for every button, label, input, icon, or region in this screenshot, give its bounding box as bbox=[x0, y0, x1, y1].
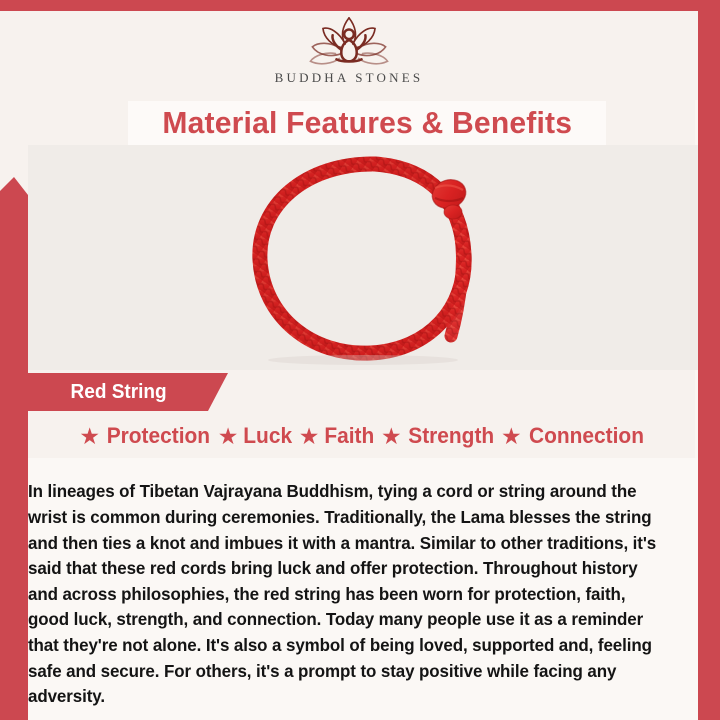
description-panel: In lineages of Tibetan Vajrayana Buddhis… bbox=[28, 458, 698, 720]
star-icon: ★ bbox=[381, 425, 402, 448]
frame-top-bar bbox=[0, 0, 720, 11]
title-banner: Material Features & Benefits bbox=[128, 101, 606, 145]
label-left-strip bbox=[0, 373, 28, 411]
benefit-item: ★ Connection bbox=[501, 423, 647, 449]
benefit-item: ★ Strength bbox=[381, 423, 496, 449]
brand-name: BUDDHA STONES bbox=[275, 70, 424, 86]
benefit-item: ★ Faith bbox=[299, 423, 376, 449]
page-title: Material Features & Benefits bbox=[162, 105, 572, 141]
infographic-page: BUDDHA STONES Material Features & Benefi… bbox=[0, 0, 720, 720]
benefits-list: ★ Protection ★ Luck ★ Faith ★ Strength ★… bbox=[28, 414, 698, 458]
frame-right-bar bbox=[698, 0, 720, 720]
benefit-label: Faith bbox=[325, 423, 375, 449]
benefit-label: Luck bbox=[244, 423, 293, 449]
star-icon: ★ bbox=[299, 425, 320, 448]
benefit-item: ★ Protection bbox=[79, 423, 212, 449]
red-string-bracelet-illustration bbox=[233, 150, 493, 366]
benefit-label: Protection bbox=[107, 423, 210, 449]
benefit-label: Connection bbox=[529, 423, 644, 449]
lotus-meditation-icon bbox=[290, 15, 408, 69]
frame-left-bar bbox=[0, 177, 28, 720]
benefit-label: Strength bbox=[408, 423, 494, 449]
description-text: In lineages of Tibetan Vajrayana Buddhis… bbox=[28, 479, 660, 709]
star-icon: ★ bbox=[79, 425, 100, 448]
material-label-banner: Red String bbox=[28, 373, 228, 411]
material-label: Red String bbox=[71, 381, 167, 404]
product-image bbox=[28, 145, 698, 370]
star-icon: ★ bbox=[218, 425, 239, 448]
star-icon: ★ bbox=[501, 425, 522, 448]
benefit-item: ★ Luck bbox=[218, 423, 294, 449]
brand-header: BUDDHA STONES bbox=[0, 11, 698, 100]
